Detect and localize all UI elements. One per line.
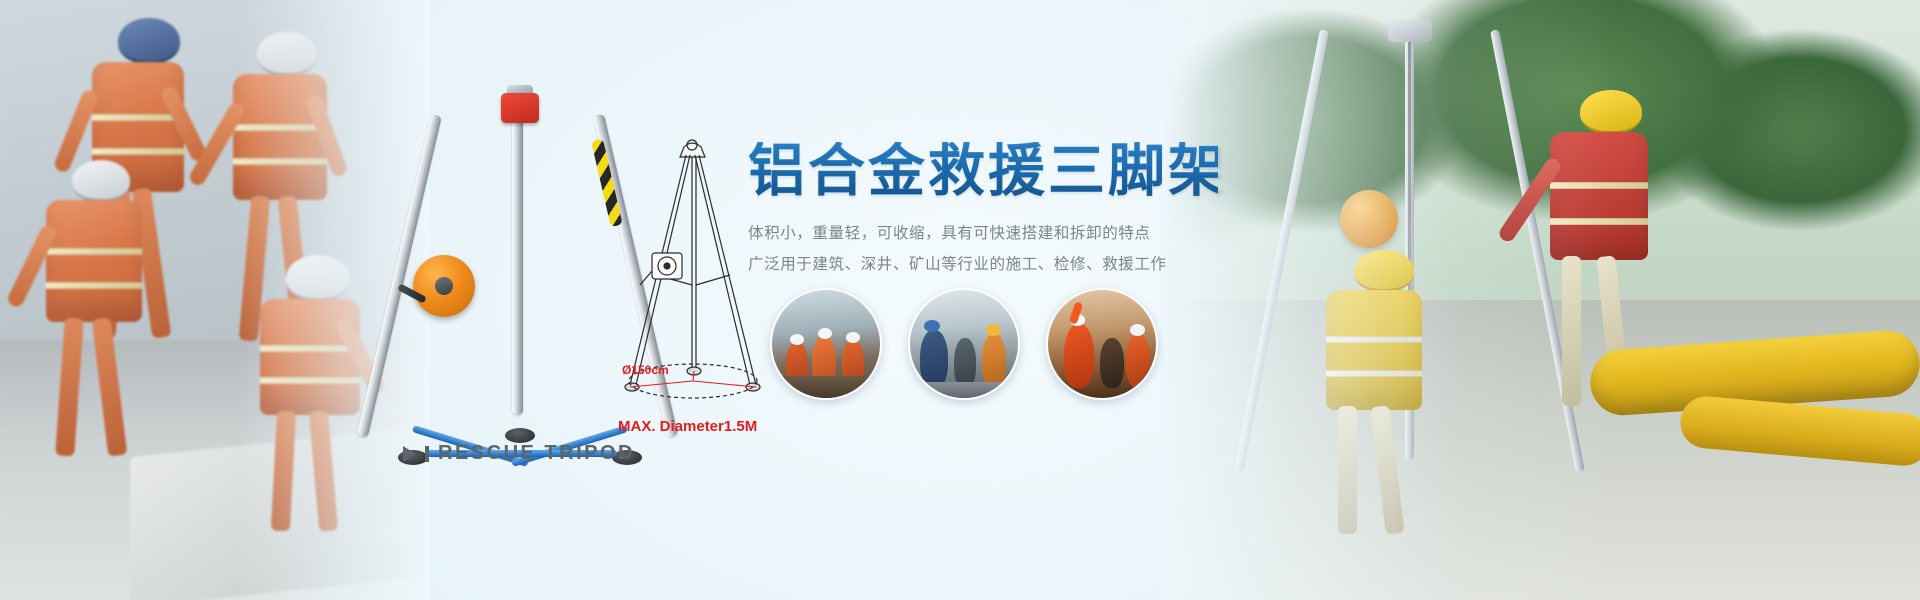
application-photo-1 <box>770 288 882 400</box>
label-accent-bar <box>425 446 429 462</box>
subtitle-line-1: 体积小，重量轻，可收缩，具有可快速搭建和拆卸的特点 <box>748 220 1218 249</box>
application-photo-strip <box>770 288 1158 400</box>
tripod-winch <box>413 255 475 317</box>
product-banner: RESCUE TRIPOD <box>0 0 1920 600</box>
left-photo-collage <box>0 0 430 600</box>
rescue-tripod-text: RESCUE TRIPOD <box>438 442 635 465</box>
application-photo-3 <box>1046 288 1158 400</box>
tripod-head-block <box>501 93 539 123</box>
left-photo-fade-overlay <box>0 0 430 600</box>
product-name-label: RESCUE TRIPOD <box>403 442 635 465</box>
right-photo-collage <box>1160 0 1920 600</box>
application-photo-2 <box>908 288 1020 400</box>
headline-block: 铝合金救援三脚架 体积小，重量轻，可收缩，具有可快速搭建和拆卸的特点 广泛用于建… <box>748 142 1218 279</box>
diameter-annotation: Ø150cm <box>622 363 669 377</box>
tripod-leg-rear <box>512 115 523 415</box>
subtitle-line-2: 广泛用于建筑、深井、矿山等行业的施工、检修、救援工作 <box>748 251 1218 280</box>
right-photo-fade-overlay <box>1160 0 1920 600</box>
page-title: 铝合金救援三脚架 <box>748 142 1218 202</box>
play-triangle-icon <box>403 446 416 462</box>
max-diameter-annotation: MAX. Diameter1.5M <box>618 418 757 435</box>
